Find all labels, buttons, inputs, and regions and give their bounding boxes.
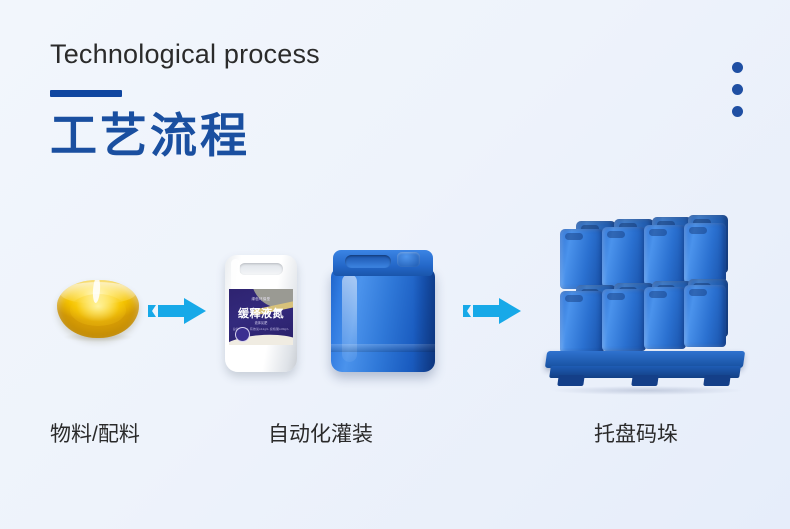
arrow-right-icon bbox=[463, 296, 523, 326]
pallet-stack-image bbox=[540, 215, 750, 395]
stacked-jerrycan bbox=[684, 285, 726, 347]
pallet-foot bbox=[703, 375, 731, 386]
caption-filling: 自动化灌装 bbox=[268, 418, 373, 448]
dot-1 bbox=[732, 62, 743, 73]
arrow-right-icon bbox=[148, 296, 208, 326]
stage-captions: 物料/配料 自动化灌装 托盘码垛 bbox=[0, 418, 790, 458]
pallet-drop-shadow bbox=[552, 386, 742, 395]
stacked-jerrycan bbox=[684, 223, 726, 283]
label-subtitle: 液体氮肥 bbox=[229, 320, 293, 325]
stacked-jerrycan bbox=[602, 289, 646, 351]
bottle-handle-recess bbox=[239, 263, 283, 275]
bottle-body: 绿色环保型 缓释液氮 液体氮肥 总氮≥15g/L 有效氮≥11g/L 腐植酸≥3… bbox=[225, 255, 297, 372]
stacked-jerrycan bbox=[644, 287, 686, 349]
dot-2 bbox=[732, 84, 743, 95]
stacked-jerrycan bbox=[644, 225, 686, 285]
label-product-name: 缓释液氮 bbox=[229, 305, 293, 321]
label-brand-line: 绿色环保型 bbox=[229, 296, 293, 301]
oil-bowl-image bbox=[57, 280, 139, 342]
page-title-cn: 工艺流程 bbox=[50, 111, 320, 160]
jerrycan-body bbox=[331, 268, 435, 372]
product-label: 绿色环保型 缓释液氮 液体氮肥 总氮≥15g/L 有效氮≥11g/L 腐植酸≥3… bbox=[229, 289, 293, 345]
page-header: Technological process 工艺流程 bbox=[50, 40, 320, 160]
jerrycan-top bbox=[333, 250, 433, 276]
caption-palletizing: 托盘码垛 bbox=[594, 418, 678, 448]
jerrycan-stack bbox=[554, 215, 730, 363]
jerrycan-shading bbox=[413, 268, 435, 372]
bowl-shape bbox=[57, 280, 139, 338]
three-dots-vertical-icon bbox=[732, 62, 743, 117]
stacked-jerrycan bbox=[560, 291, 604, 353]
page-title-en: Technological process bbox=[50, 40, 320, 70]
jerrycan-image bbox=[331, 250, 435, 372]
product-bottle-image: 绿色环保型 缓释液氮 液体氮肥 总氮≥15g/L 有效氮≥11g/L 腐植酸≥3… bbox=[225, 255, 297, 372]
certification-seal-icon bbox=[235, 327, 250, 342]
stacked-jerrycan bbox=[602, 227, 646, 287]
jerrycan-cap bbox=[397, 252, 420, 267]
caption-materials: 物料/配料 bbox=[50, 418, 140, 448]
dot-3 bbox=[732, 106, 743, 117]
process-infographic: Technological process 工艺流程 bbox=[0, 0, 790, 529]
plastic-pallet bbox=[540, 351, 750, 389]
pallet-foot bbox=[557, 375, 585, 386]
pallet-foot bbox=[631, 375, 659, 386]
jerrycan-handle bbox=[345, 255, 391, 268]
title-underline-rule bbox=[50, 90, 122, 97]
process-flow-row: 绿色环保型 缓释液氮 液体氮肥 总氮≥15g/L 有效氮≥11g/L 腐植酸≥3… bbox=[0, 210, 790, 395]
stacked-jerrycan bbox=[560, 229, 604, 289]
